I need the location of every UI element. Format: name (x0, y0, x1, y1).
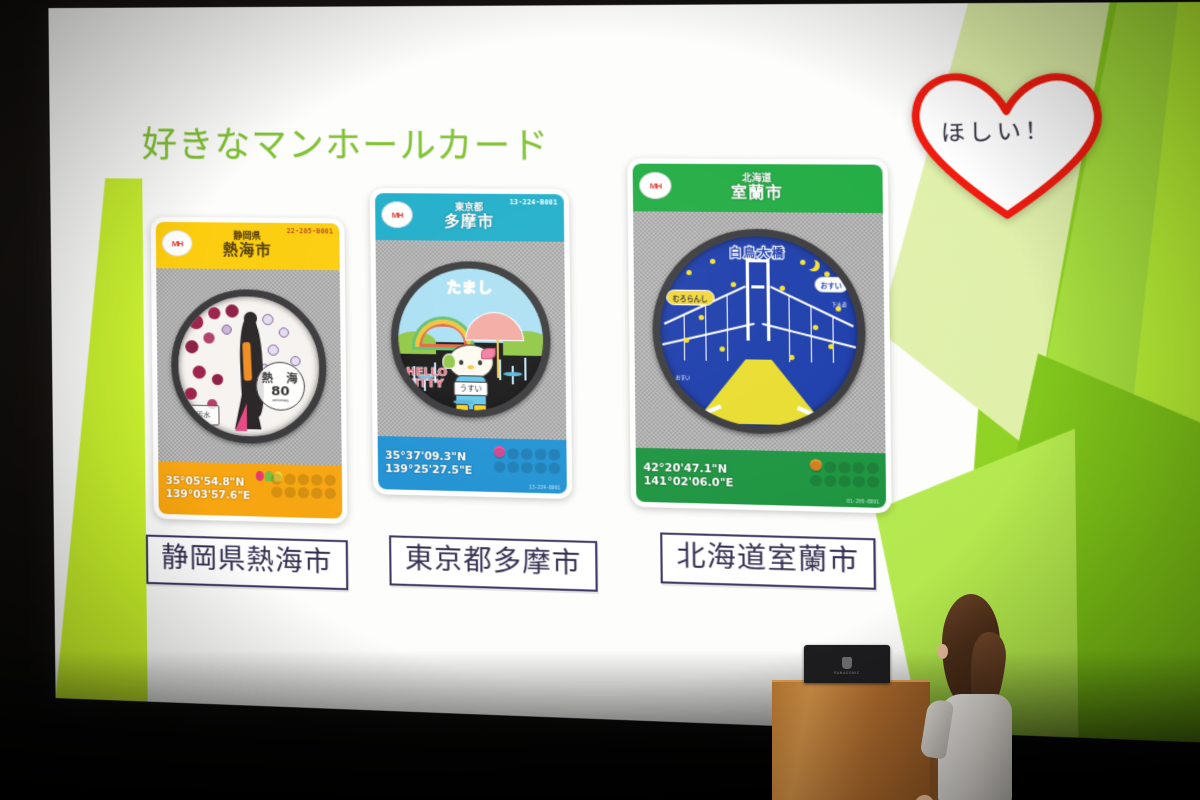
usage-pill-label: おすい (814, 277, 849, 293)
card-city: 多摩市 (444, 214, 494, 231)
grid-dot (324, 488, 335, 499)
plum-blossom-icon (212, 374, 223, 385)
plum-blossom-icon (279, 328, 289, 338)
card-title-block: 北海道 室蘭市 (731, 175, 783, 202)
grid-dot (324, 475, 335, 486)
grid-dot (271, 486, 282, 497)
podium (772, 680, 930, 800)
plum-blossom-icon (268, 344, 279, 355)
manhole-card-row: MH 静岡県 熱海市 22-205-B001 (150, 169, 1026, 556)
grid-dot (867, 462, 879, 474)
photo-stage: 好きなマンホールカード MH 静岡県 熱海市 (0, 0, 1200, 800)
brand-line-2: KITTY (406, 377, 448, 389)
plum-blossom-icon (184, 388, 196, 400)
rain-line (525, 358, 527, 381)
card-footer-muroran: 42°20'47.1"N 141°02'06.0"E 01-205-B001 (636, 448, 886, 508)
plum-blossom-icon (209, 307, 221, 319)
presenter (920, 590, 1030, 800)
grid-dot (284, 487, 295, 498)
logo-mark-text: MH (650, 181, 661, 190)
bridge-strut (810, 306, 812, 363)
night-light (828, 344, 834, 349)
laptop-brand-word: PANASONIC (834, 671, 860, 675)
night-light (789, 355, 795, 360)
grid-dot (824, 461, 836, 473)
bridge-roadway (694, 359, 825, 426)
card-title-block: 東京都 多摩市 (444, 204, 495, 230)
grid-dot (535, 449, 547, 461)
lid-tiny-text-left: おすい (676, 375, 691, 381)
grid-dot (507, 461, 519, 473)
grid-dot (311, 474, 322, 485)
heart-annotation-text: ほしい！ (940, 112, 1053, 148)
plum-blossom-icon (203, 332, 214, 343)
grid-dot (521, 462, 533, 474)
grid-dot (535, 462, 547, 474)
card-number: 13-224-B001 (510, 198, 558, 207)
manhole-card-muroran[interactable]: MH 北海道 室蘭市 白鳥大橋 (627, 158, 892, 513)
lid-tiny-text-right: 下水道 (832, 302, 847, 308)
laptop-brand-logo-icon (842, 657, 852, 669)
grid-dot (298, 487, 309, 498)
card-city: 熱海市 (223, 242, 272, 258)
lid-top-label: たまし (446, 277, 493, 298)
seal-line-2: 80 (271, 386, 290, 398)
night-light (800, 259, 806, 264)
plum-blossom-icon (185, 340, 198, 353)
plum-blossom-icon (262, 313, 273, 324)
night-light (719, 346, 724, 351)
grid-dot (549, 462, 561, 474)
night-light (699, 315, 704, 320)
night-light (780, 286, 786, 291)
card-coordinates: 42°20'47.1"N 141°02'06.0"E (643, 461, 733, 490)
plum-blossom-icon (225, 305, 238, 318)
lid-name-plate: 汚水 (187, 405, 220, 426)
grid-dot (867, 476, 879, 488)
manhole-lid-muroran: 白鳥大橋 (651, 228, 866, 436)
bridge-strut (832, 317, 834, 363)
kitty-nose (468, 365, 474, 369)
green-accent-stripe-left (50, 178, 147, 702)
card-coordinates: 35°05'54.8"N 139°03'57.6"E (165, 475, 250, 504)
grid-dot (548, 449, 560, 461)
card-longitude: 141°02'06.0"E (643, 475, 733, 491)
manhole-lid-tama: たまし (390, 261, 551, 420)
card-dot-grid (271, 473, 336, 499)
manhole-card-logo-icon: MH (639, 172, 671, 199)
caption-atami: 静岡県熱海市 (146, 535, 348, 591)
logo-mark-text: MH (392, 210, 403, 219)
caption-tama: 東京都多摩市 (389, 535, 598, 592)
card-dot-grid (494, 448, 561, 474)
night-light (730, 282, 735, 287)
grid-dot (810, 461, 822, 473)
kitty-eye (478, 360, 482, 365)
card-city: 室蘭市 (731, 185, 783, 202)
plum-blossom-icon (189, 315, 203, 329)
grid-dot (853, 462, 865, 474)
bridge-title-text: 白鳥大橋 (729, 244, 786, 261)
card-header-tama: MH 東京都 多摩市 13-224-B001 (375, 193, 564, 242)
kitty-bow-icon (481, 348, 496, 360)
hello-kitty-wordmark: HELLO KITTY (406, 366, 448, 389)
manhole-card-logo-icon: MH (381, 201, 412, 228)
presenter-ear (937, 644, 948, 659)
grid-dot (298, 474, 309, 485)
card-photo-asphalt: 白鳥大橋 (633, 211, 885, 453)
card-coordinates: 35°37'09.3"N 139°25'27.5"E (385, 449, 472, 478)
anniversary-seal: 熱 海 80 anniversary (256, 361, 306, 411)
card-photo-asphalt: たまし (376, 240, 567, 440)
kitty-boot (455, 404, 469, 414)
rain-line (499, 359, 501, 380)
bridge-strut (788, 295, 790, 362)
caption-muroran: 北海道室蘭市 (660, 532, 876, 590)
bridge-tower (746, 259, 771, 341)
card-longitude: 139°25'27.5"E (385, 463, 472, 478)
grid-dot (810, 475, 822, 487)
grid-dot (521, 448, 533, 460)
card-footer-atami: 35°05'54.8"N 139°03'57.6"E (158, 461, 342, 518)
bridge-cable (762, 323, 856, 349)
night-light (824, 271, 830, 276)
grid-dot (838, 462, 850, 474)
flower-icon (256, 471, 264, 481)
card-longitude: 139°03'57.6"E (166, 488, 251, 503)
card-footer-code: 01-205-B001 (847, 500, 880, 506)
grid-dot (311, 487, 322, 498)
card-header-muroran: MH 北海道 室蘭市 (633, 164, 883, 214)
card-photo-asphalt: 熱 海 80 anniversary 汚水 (156, 268, 342, 466)
card-dot-grid (810, 461, 879, 488)
plum-blossom-icon (221, 324, 231, 334)
kitty-boot (473, 404, 487, 414)
manhole-card-atami[interactable]: MH 静岡県 熱海市 22-205-B001 (151, 217, 348, 524)
card-footer-tama: 35°37'09.3"N 139°25'27.5"E 13-224-B001 (378, 436, 567, 494)
grid-dot (838, 475, 850, 487)
grid-dot (284, 474, 295, 485)
manhole-card-logo-icon: MH (162, 230, 193, 256)
slide-title: 好きなマンホールカード (142, 116, 550, 169)
lid-bottom-plate: うすい (454, 381, 489, 396)
bridge-strut (705, 305, 707, 361)
night-light (687, 270, 692, 275)
logo-mark-text: MH (172, 239, 183, 248)
card-header-atami: MH 静岡県 熱海市 22-205-B001 (156, 222, 340, 270)
city-pill-label: むろらんし (666, 289, 714, 305)
card-title-block: 静岡県 熱海市 (223, 233, 272, 259)
presenter-laptop: PANASONIC (804, 645, 890, 683)
kitty-eye (459, 360, 463, 365)
puddle-shape (503, 372, 522, 376)
night-light (710, 259, 715, 264)
grid-dot (494, 461, 506, 473)
plum-blossom-icon (192, 365, 205, 378)
grid-dot (824, 475, 836, 487)
night-light (812, 325, 818, 330)
grid-dot (507, 448, 519, 460)
bridge-cable (662, 323, 754, 346)
card-number: 22-205-B001 (287, 227, 334, 236)
night-light (684, 338, 689, 343)
geisha-head (244, 312, 257, 325)
manhole-card-tama[interactable]: MH 東京都 多摩市 13-224-B001 (370, 188, 572, 499)
card-footer-code: 13-224-B001 (529, 486, 561, 492)
grid-dot (494, 448, 506, 460)
grid-dot (853, 476, 865, 488)
manhole-lid-atami: 熱 海 80 anniversary 汚水 (171, 288, 328, 445)
grid-dot (271, 473, 282, 484)
seal-line-3: anniversary (272, 398, 288, 402)
